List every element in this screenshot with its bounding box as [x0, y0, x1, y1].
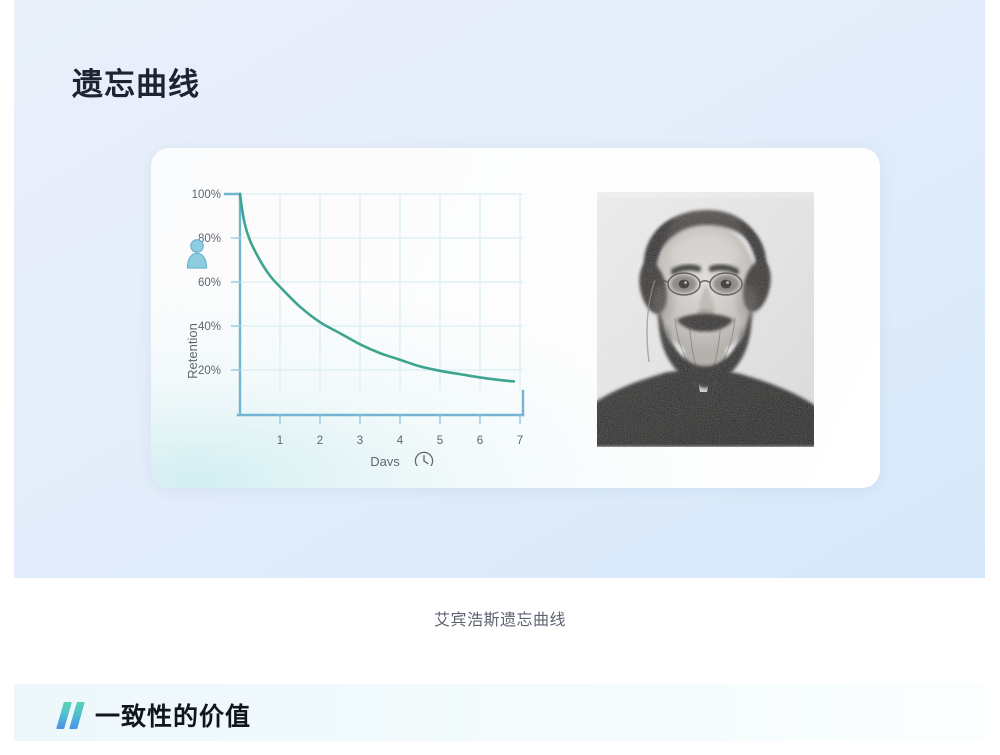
- x-tick-label-7: 7: [517, 435, 523, 447]
- clock-icon: [415, 452, 432, 466]
- page-title: 遗忘曲线: [72, 64, 200, 106]
- portrait-svg: [597, 192, 814, 447]
- section-heading: 一致性的价值: [60, 697, 251, 733]
- x-axis-label: Days: [370, 454, 400, 466]
- x-tick-label-2: 2: [317, 435, 323, 447]
- chart-gridlines-vertical: [280, 194, 520, 391]
- chart-x-ticks: [280, 415, 520, 424]
- x-tick-label-1: 1: [277, 435, 283, 447]
- section-band: 一致性的价值: [14, 684, 985, 741]
- forgetting-curve-chart: 100% 80% 60% 40% 20% 1 2 3 4 5 6 7: [175, 176, 595, 466]
- ebbinghaus-portrait: [597, 192, 814, 447]
- y-tick-label-40: 40%: [198, 321, 221, 333]
- slide-page: 遗忘曲线: [0, 0, 1000, 755]
- x-tick-label-4: 4: [397, 435, 404, 447]
- x-tick-label-5: 5: [437, 435, 443, 447]
- chart-svg: 100% 80% 60% 40% 20% 1 2 3 4 5 6 7: [175, 176, 595, 466]
- y-axis-label: Retention: [185, 323, 200, 379]
- retention-curve: [240, 194, 514, 381]
- double-slash-accent-icon: [60, 702, 81, 729]
- y-tick-label-60: 60%: [198, 277, 221, 289]
- x-tick-label-3: 3: [357, 435, 363, 447]
- section-heading-text: 一致性的价值: [95, 697, 251, 733]
- y-tick-label-100: 100%: [192, 189, 221, 201]
- figure-card: 100% 80% 60% 40% 20% 1 2 3 4 5 6 7: [151, 148, 880, 488]
- chart-axes: [225, 194, 523, 415]
- x-tick-label-6: 6: [477, 435, 483, 447]
- figure-caption: 艾宾浩斯遗忘曲线: [0, 606, 1000, 630]
- y-tick-label-20: 20%: [198, 365, 221, 377]
- hero-panel: 遗忘曲线: [14, 0, 985, 578]
